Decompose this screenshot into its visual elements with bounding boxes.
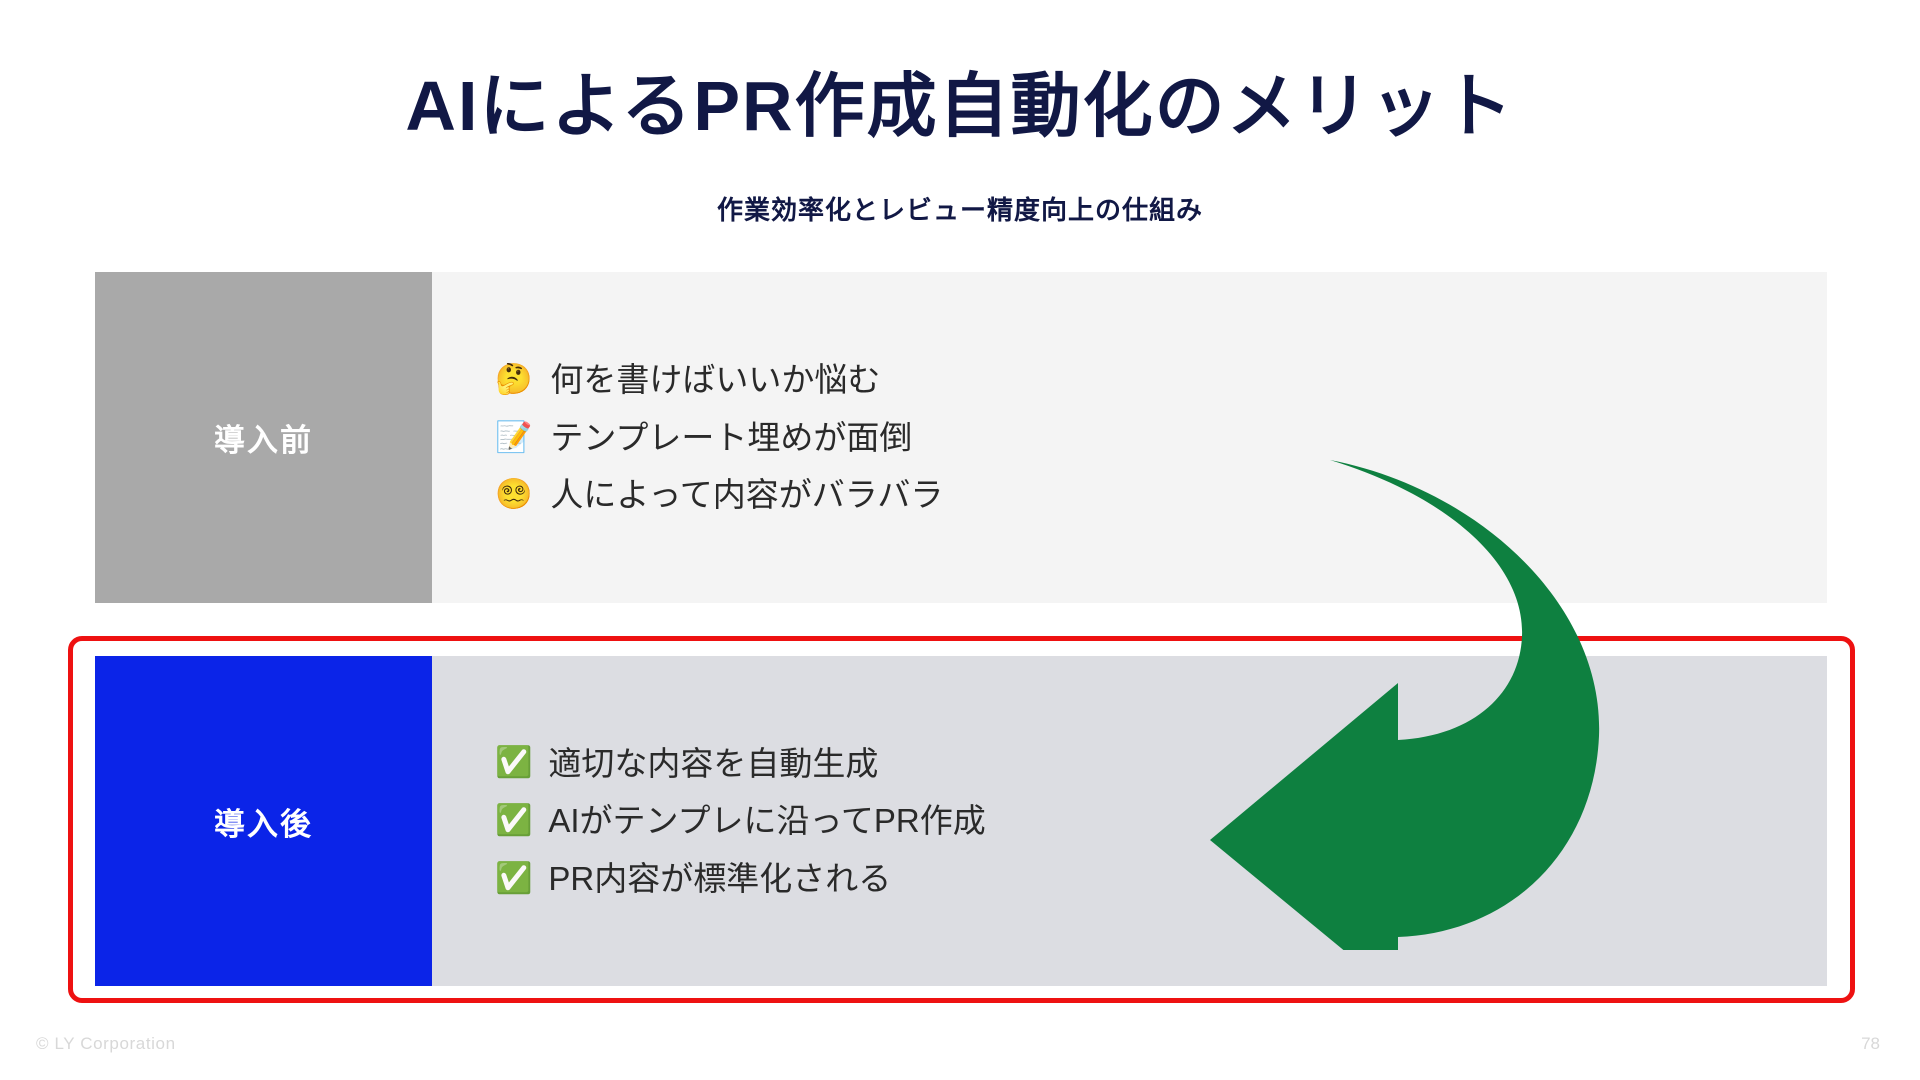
before-items-list: 🤔 何を書けばいいか悩む 📝 テンプレート埋めが面倒 😵‍💫 人によって内容がバ… [495, 272, 943, 603]
after-section-highlight-border [68, 636, 1855, 1003]
before-section-panel: 導入前 🤔 何を書けばいいか悩む 📝 テンプレート埋めが面倒 😵‍💫 人によって… [95, 272, 1827, 603]
list-item-label: 人によって内容がバラバラ [550, 475, 943, 515]
memo-emoji-icon: 📝 [495, 423, 532, 453]
list-item-label: テンプレート埋めが面倒 [550, 418, 912, 458]
page-title: AIによるPR作成自動化のメリット [0, 70, 1920, 144]
page-subtitle: 作業効率化とレビュー精度向上の仕組み [0, 190, 1920, 227]
thinking-face-emoji-icon: 🤔 [495, 365, 532, 395]
face-with-spiral-eyes-emoji-icon: 😵‍💫 [495, 480, 532, 510]
before-label-text: 導入前 [214, 415, 313, 460]
footer-copyright: © LY Corporation [36, 1034, 176, 1054]
footer-page-number: 78 [1861, 1034, 1880, 1054]
list-item: 🤔 何を書けばいいか悩む [495, 360, 943, 400]
before-label-box: 導入前 [95, 272, 432, 603]
list-item: 😵‍💫 人によって内容がバラバラ [495, 475, 943, 515]
list-item: 📝 テンプレート埋めが面倒 [495, 418, 943, 458]
list-item-label: 何を書けばいいか悩む [550, 360, 880, 400]
